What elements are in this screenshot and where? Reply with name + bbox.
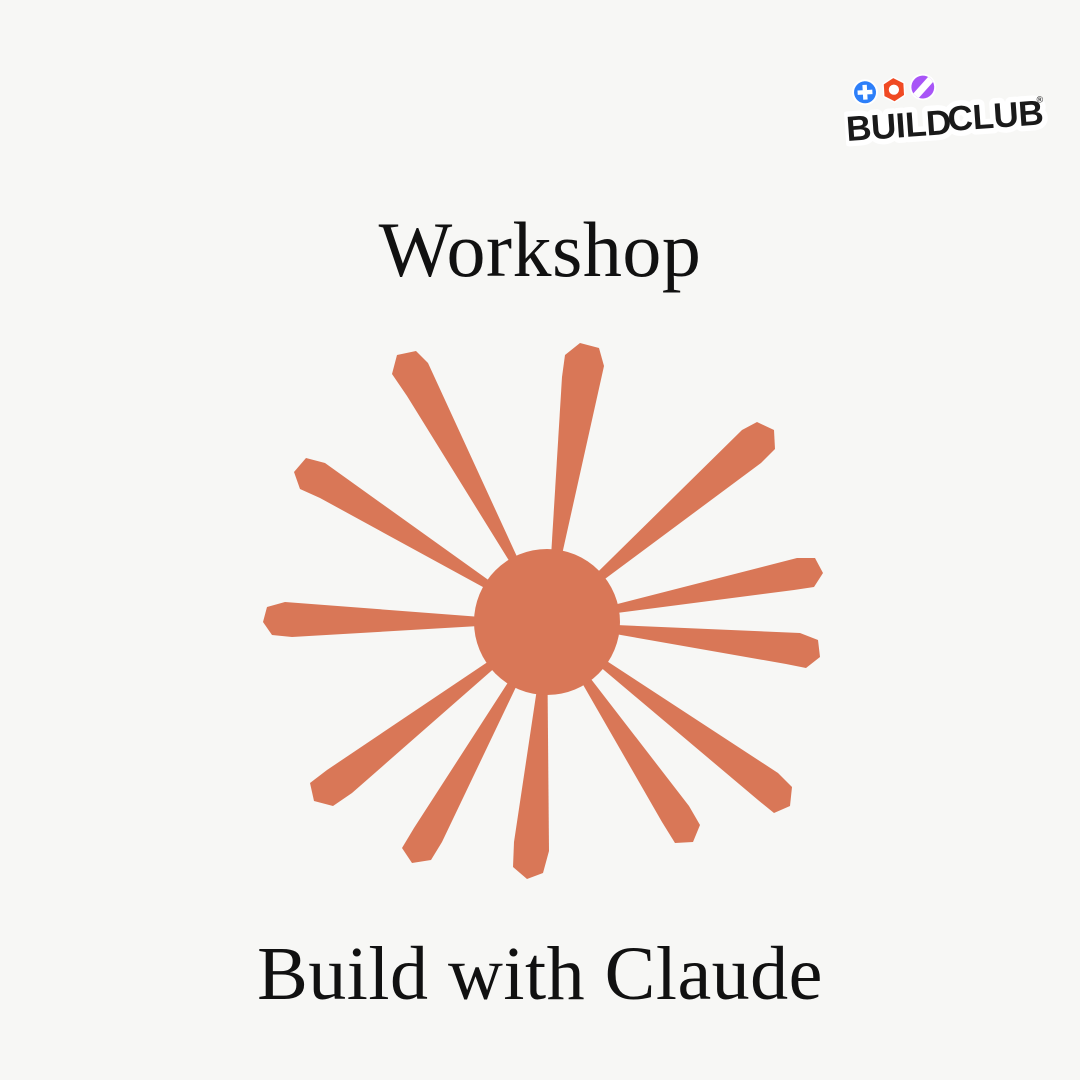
slash-circle-icon (908, 72, 938, 102)
brand-word-one: BUILD (845, 103, 952, 149)
brand-word-two: CLUB (946, 93, 1044, 139)
registered-trademark-icon: ® (1036, 94, 1044, 104)
build-club-logo[interactable]: BUILD CLUB BUILD CLUB ® (845, 74, 1050, 150)
page-title: Build with Claude (0, 928, 1080, 1020)
claude-starburst-icon (252, 330, 832, 910)
poster-canvas: BUILD CLUB BUILD CLUB ® Workshop (0, 0, 1080, 1080)
starburst-rays (263, 343, 823, 879)
workshop-label: Workshop (0, 204, 1080, 296)
